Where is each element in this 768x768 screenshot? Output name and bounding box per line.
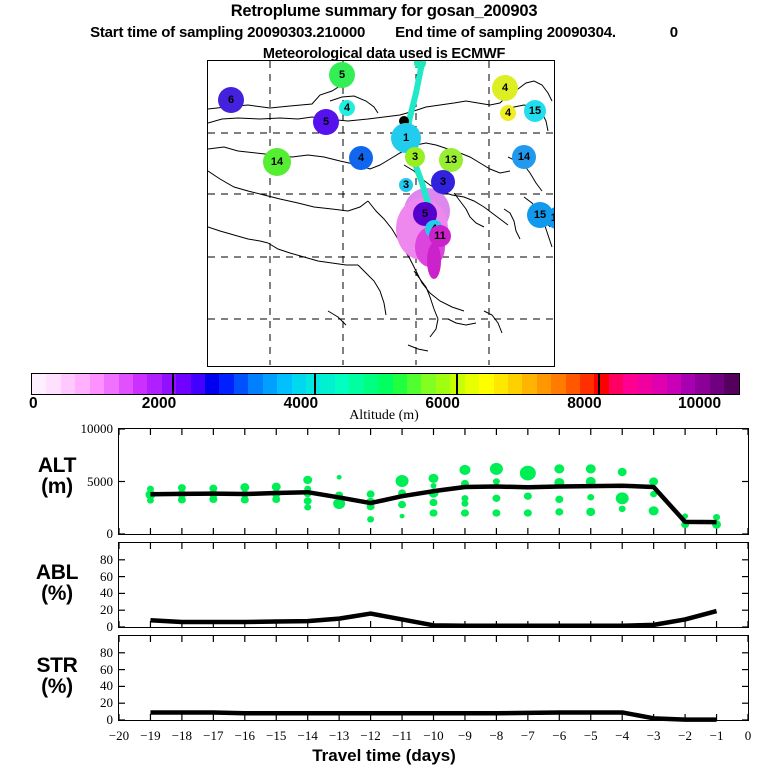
colorbar-swatch xyxy=(407,374,421,394)
colorbar-swatch xyxy=(508,374,522,394)
alt-scatter-point xyxy=(430,499,438,506)
xaxis-tick-label: −18 xyxy=(172,728,192,744)
alt-scatter-point xyxy=(524,509,532,516)
xaxis-tick-label: −1 xyxy=(710,728,724,744)
colorbar-swatch xyxy=(219,374,233,394)
colorbar-divider xyxy=(314,373,316,395)
end-time-extra: 0 xyxy=(670,24,678,41)
colorbar-swatch xyxy=(479,374,493,394)
colorbar-swatch xyxy=(652,374,666,394)
page-title: Retroplume summary for gosan_200903 xyxy=(0,2,768,21)
xaxis-tick-label: −10 xyxy=(423,728,443,744)
colorbar-swatch xyxy=(277,374,291,394)
colorbar-swatch xyxy=(349,374,363,394)
colorbar-divider xyxy=(598,373,600,395)
alt-scatter-point xyxy=(524,493,532,500)
alt-scatter-point xyxy=(367,490,375,497)
retroplume-figure: Retroplume summary for gosan_200903 Star… xyxy=(0,0,768,768)
colorbar-swatch xyxy=(566,374,580,394)
colorbar-swatch xyxy=(667,374,681,394)
alt-scatter-point xyxy=(520,466,536,481)
colorbar-swatch xyxy=(551,374,565,394)
xaxis-tick-label: −17 xyxy=(203,728,223,744)
xaxis-tick-label: −11 xyxy=(392,728,412,744)
alt-scatter-point xyxy=(587,494,594,500)
xaxis-tick-label: −2 xyxy=(678,728,692,744)
str-plot xyxy=(119,636,748,720)
colorbar-swatch xyxy=(710,374,724,394)
xaxis-tick-label: −16 xyxy=(235,728,255,744)
xaxis-tick-label: −15 xyxy=(266,728,286,744)
alt-scatter-point xyxy=(400,514,405,519)
cluster-marker[interactable]: 4 xyxy=(349,146,373,170)
alt-scatter-point xyxy=(304,497,312,504)
colorbar-swatch xyxy=(335,374,349,394)
abl-axis-label: ABL (%) xyxy=(8,562,106,605)
alt-scatter-point xyxy=(337,475,342,480)
alt-scatter-point xyxy=(178,496,186,503)
colorbar-swatch xyxy=(263,374,277,394)
colorbar-swatch xyxy=(623,374,637,394)
xaxis-title: Travel time (days) xyxy=(0,746,768,766)
data-line xyxy=(150,611,716,626)
cluster-marker[interactable]: 11 xyxy=(429,225,451,247)
colorbar-swatch xyxy=(494,374,508,394)
colorbar-swatch xyxy=(133,374,147,394)
alt-scatter-point xyxy=(272,496,280,503)
alt-scatter-point xyxy=(492,509,500,516)
alt-scatter-point xyxy=(649,477,658,485)
alt-scatter-point xyxy=(555,496,563,503)
cluster-marker[interactable]: 5 xyxy=(313,109,339,135)
str-axis-label-line2: (%) xyxy=(8,676,106,697)
alt-scatter-point xyxy=(429,474,439,483)
cluster-marker[interactable]: 14 xyxy=(512,145,536,169)
cluster-marker[interactable]: 4 xyxy=(339,100,355,116)
colorbar-swatch xyxy=(147,374,161,394)
end-time-value: 20090304. xyxy=(547,24,616,41)
colorbar-swatch xyxy=(537,374,551,394)
alt-axis-label: ALT (m) xyxy=(8,455,106,498)
str-axis-label-line1: STR xyxy=(8,655,106,676)
colorbar-divider xyxy=(172,373,174,395)
colorbar-swatch xyxy=(695,374,709,394)
alt-scatter-point xyxy=(618,468,627,476)
alt-scatter-point xyxy=(461,500,468,506)
xaxis-tick-labels: −20−19−18−17−16−15−14−13−12−11−10−9−8−7−… xyxy=(0,728,768,746)
colorbar-swatch xyxy=(61,374,75,394)
colorbar-swatch xyxy=(32,374,46,394)
retroplume-map[interactable]: 52464415511144313143354111512 xyxy=(207,60,555,367)
cluster-marker[interactable]: 13 xyxy=(439,148,463,172)
cluster-marker[interactable]: 4 xyxy=(492,75,518,101)
colorbar-swatch xyxy=(75,374,89,394)
start-time-value: 20090303.210000 xyxy=(247,24,365,41)
xaxis-tick-label: −3 xyxy=(647,728,661,744)
xaxis-tick-label: −8 xyxy=(489,728,503,744)
alt-scatter-point xyxy=(461,509,469,516)
alt-scatter-point xyxy=(240,483,249,491)
colorbar-swatch xyxy=(292,374,306,394)
cluster-marker[interactable]: 3 xyxy=(399,178,413,192)
alt-scatter-point xyxy=(554,464,564,473)
xaxis-tick-label: −5 xyxy=(584,728,598,744)
colorbar-title: Altitude (m) xyxy=(0,408,768,424)
xaxis-tick-label: −4 xyxy=(615,728,629,744)
alt-scatter-point xyxy=(147,497,154,503)
colorbar-swatch xyxy=(90,374,104,394)
cluster-marker[interactable]: 3 xyxy=(431,170,455,194)
alt-scatter-point xyxy=(459,465,470,475)
cluster-marker[interactable]: 5 xyxy=(329,62,355,88)
cluster-marker[interactable]: 3 xyxy=(405,147,425,167)
alt-scatter-point xyxy=(492,495,500,502)
alt-scatter-point xyxy=(616,492,629,504)
xaxis-tick-label: −13 xyxy=(329,728,349,744)
str-panel[interactable] xyxy=(118,635,749,721)
cluster-marker[interactable]: 15 xyxy=(524,100,546,122)
colorbar-swatch xyxy=(638,374,652,394)
colorbar-swatch xyxy=(162,374,176,394)
alt-scatter-point xyxy=(555,508,563,515)
alt-scatter-point xyxy=(303,476,312,484)
colorbar-swatch xyxy=(320,374,334,394)
sampling-time-line: Start time of sampling 20090303.210000 E… xyxy=(0,24,768,41)
abl-axis-label-line1: ABL xyxy=(8,562,106,583)
colorbar-swatch xyxy=(378,374,392,394)
start-time-label: Start time of sampling xyxy=(90,24,243,41)
xaxis-tick-label: −19 xyxy=(140,728,160,744)
alt-scatter-point xyxy=(209,496,217,503)
xaxis-tick-label: 0 xyxy=(745,728,752,744)
alt-scatter-point xyxy=(586,508,595,516)
yaxis-tick-label: 0 xyxy=(107,526,114,542)
alt-scatter-point xyxy=(493,478,500,484)
xaxis-tick-label: −7 xyxy=(521,728,535,744)
colorbar-swatch xyxy=(119,374,133,394)
colorbar-swatch xyxy=(580,374,594,394)
colorbar-swatch xyxy=(609,374,623,394)
abl-panel[interactable] xyxy=(118,542,749,628)
colorbar-swatch xyxy=(421,374,435,394)
colorbar-swatch xyxy=(205,374,219,394)
alt-scatter-point xyxy=(241,496,249,503)
cluster-marker[interactable]: 14 xyxy=(263,148,291,176)
end-time-label: End time of sampling xyxy=(395,24,543,41)
alt-scatter-point xyxy=(586,464,596,473)
colorbar-swatch xyxy=(234,374,248,394)
alt-scatter-point xyxy=(430,509,438,516)
colorbar-divider xyxy=(456,373,458,395)
alt-scatter-point xyxy=(367,516,374,522)
altitude-colorbar xyxy=(31,373,740,395)
cluster-marker[interactable]: 4 xyxy=(500,105,516,121)
colorbar-swatch xyxy=(594,374,608,394)
colorbar-swatch xyxy=(191,374,205,394)
colorbar-swatch xyxy=(364,374,378,394)
alt-scatter-point xyxy=(713,514,720,520)
colorbar-swatch xyxy=(724,374,738,394)
str-axis-label: STR (%) xyxy=(8,655,106,698)
xaxis-tick-label: −12 xyxy=(360,728,380,744)
alt-axis-label-line1: ALT xyxy=(8,455,106,476)
colorbar-swatch xyxy=(46,374,60,394)
colorbar-swatch xyxy=(522,374,536,394)
colorbar-swatch xyxy=(465,374,479,394)
cluster-marker[interactable]: 6 xyxy=(218,87,244,113)
alt-axis-label-line2: (m) xyxy=(8,476,106,497)
alt-scatter-point xyxy=(619,506,626,512)
alt-scatter-point xyxy=(431,483,437,489)
alt-scatter-point xyxy=(649,506,659,515)
alt-scatter-point xyxy=(490,463,503,475)
xaxis-tick-label: −20 xyxy=(109,728,129,744)
xaxis-tick-label: −6 xyxy=(552,728,566,744)
xaxis-tick-label: −14 xyxy=(298,728,318,744)
abl-plot xyxy=(119,543,748,627)
xaxis-tick-label: −9 xyxy=(458,728,472,744)
colorbar-swatch xyxy=(248,374,262,394)
alt-scatter-point xyxy=(304,504,311,510)
colorbar-swatch xyxy=(681,374,695,394)
alt-scatter-point xyxy=(396,475,409,487)
colorbar-swatch xyxy=(104,374,118,394)
colorbar-swatch xyxy=(436,374,450,394)
alt-scatter-point xyxy=(398,501,406,508)
alt-plot xyxy=(119,429,748,534)
alt-panel[interactable] xyxy=(118,428,749,535)
colorbar-swatch xyxy=(393,374,407,394)
colorbar-swatch xyxy=(176,374,190,394)
colorbar-strip xyxy=(31,373,740,395)
yaxis-tick-label: 0 xyxy=(107,619,114,635)
yaxis-tick-label: 0 xyxy=(107,712,114,728)
abl-axis-label-line2: (%) xyxy=(8,583,106,604)
